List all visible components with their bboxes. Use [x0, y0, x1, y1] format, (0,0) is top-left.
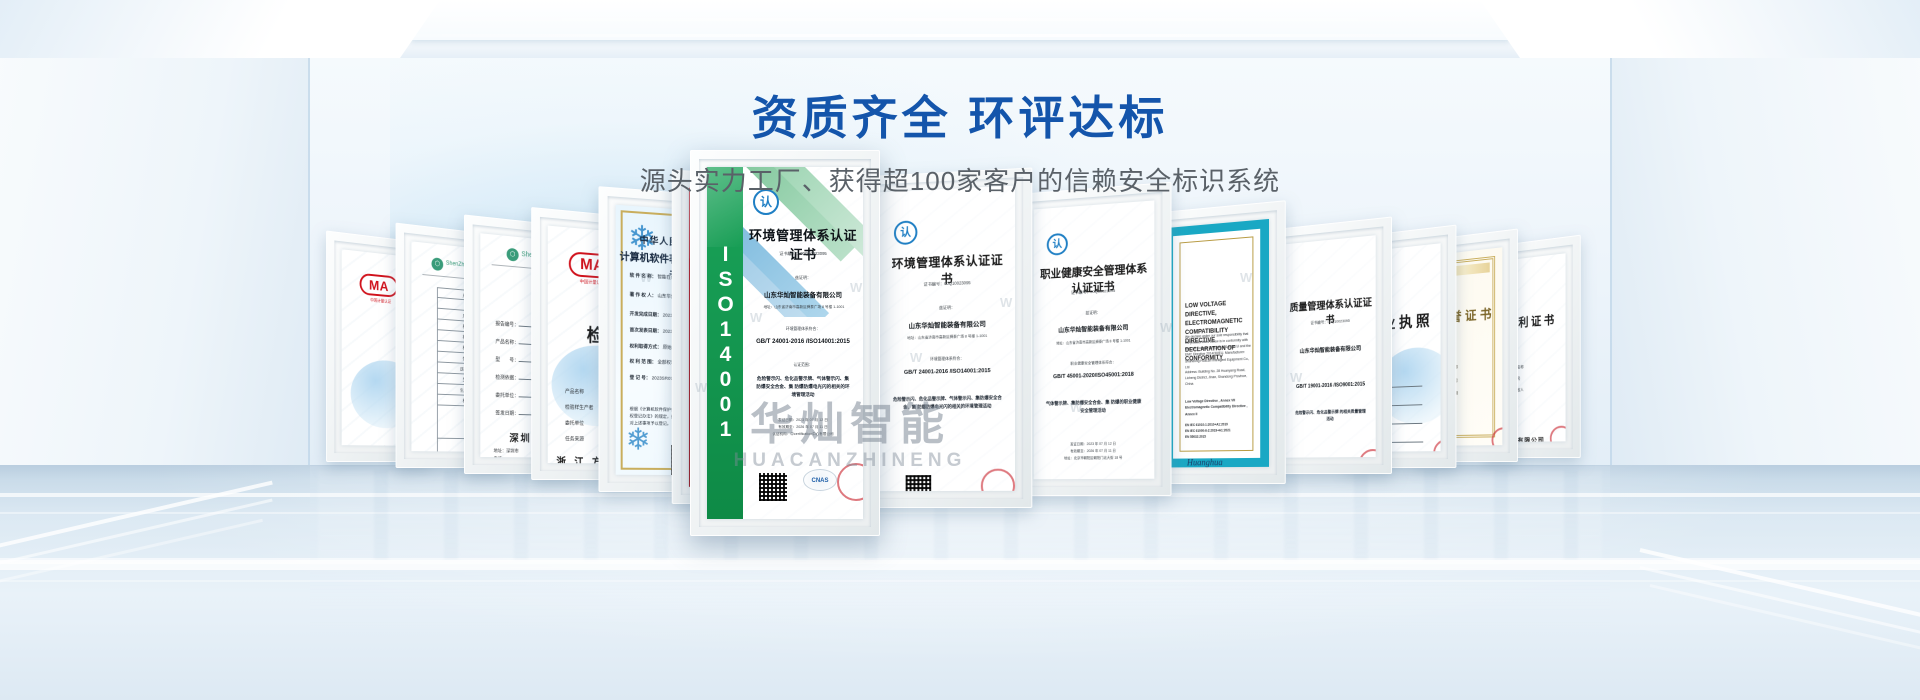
page-subtitle: 源头实力工厂、获得超100家客户的信赖安全标识系统	[0, 161, 1920, 198]
certificate-body: 危险警示闪、危化品警示牌、气体警示闪、集防爆安全合金、集 防爆防爆电光闪的相关的…	[755, 375, 851, 399]
field-row: 任务来源	[565, 431, 593, 447]
blue-filigree-corner: ❄	[626, 422, 671, 465]
certificate-paper: 认 环境管理体系认证证书 证书编号：00Q10023095 兹证明： 山东华灿智…	[878, 186, 1015, 492]
field-row: 委托单位	[565, 416, 593, 432]
certificate-paper: 质量管理体系认证证书 证书编号：00Q10023095 山东华灿智能装备有限公司…	[1286, 235, 1376, 457]
company-label: 兹证明：	[749, 275, 857, 281]
manufacturer-address: Address: Building No. 28 Huanyang Road, …	[1185, 367, 1251, 388]
cnas-badge-icon: ⬡	[432, 257, 444, 271]
standard-value: GB/T 24001-2016 /ISO14001:2015	[749, 339, 857, 345]
frame-mat: 认 职业健康安全管理体系认证证书 证书编号：00Q10023095 兹证明： 山…	[1026, 192, 1162, 487]
date-row: 发证日期：2023 年 07 月 12 日	[755, 417, 851, 424]
company-address: 地址：山东省济南市高新区舜泰广场 8 号楼 1-1001	[753, 305, 855, 310]
cnas-badge-icon: ⬡	[507, 248, 519, 262]
certificate-frame-iso9001-quality-management-cert[interactable]: 质量管理体系认证证书 证书编号：00Q10023095 山东华灿智能装备有限公司…	[1271, 216, 1392, 474]
banner-stage: 资质齐全 环评达标 源头实力工厂、获得超100家客户的信赖安全标识系统 MA 中…	[0, 0, 1920, 700]
frame-mat: LOW VOLTAGE DIRECTIVE, ELECTROMAGNETIC C…	[1158, 210, 1277, 475]
certificate-paper: 认 职业健康安全管理体系认证证书 证书编号：00Q10023095 兹证明： 山…	[1034, 200, 1155, 479]
reference-row: Electromagnetic Compatibility Directive …	[1185, 403, 1251, 417]
field-row: 产品名称	[565, 384, 593, 401]
qr-code	[906, 475, 932, 491]
certificate-number: 证书编号：00Q10023095	[749, 251, 857, 257]
declaration-paragraph: We declare under our sole responsibility…	[1185, 331, 1251, 370]
certificate-body: 危险警示闪、危化品警示牌、气体警示闪、集防爆安全合金、集 防爆防爆电光闪的相关的…	[892, 394, 1003, 411]
certificate-dates: 发证日期：2023 年 07 月 12 日 有效期至：2026 年 07 月 1…	[1045, 440, 1142, 462]
signature-script: Huanghua	[1187, 457, 1223, 467]
certificate-dates: 发证日期：2023 年 07 月 12 日 有效期至：2026 年 07 月 1…	[755, 417, 851, 439]
footer-address: 地址：深圳市	[494, 447, 519, 455]
certificate-paper: LOW VOLTAGE DIRECTIVE, ELECTROMAGNETIC C…	[1165, 219, 1269, 468]
directive-references: Low Voltage Directive , Annex VII Electr…	[1185, 397, 1251, 418]
qr-code	[759, 473, 787, 501]
page-title: 资质齐全 环评达标	[0, 92, 1920, 145]
date-row: 认证机构：中certification中心有限公司	[755, 431, 851, 438]
date-row: 有效期至：2026 年 07 月 11 日	[755, 424, 851, 431]
certificate-paper: ISO14001 认 环境管理体系认证证书 证书编号：00Q10023095 兹…	[707, 167, 863, 519]
field-row: 检验样生产者	[565, 400, 593, 417]
certificate-body: 危险警示闪、危化品警示牌 的相关质量管理活动	[1295, 407, 1366, 423]
banner-headings: 资质齐全 环评达标 源头实力工厂、获得超100家客户的信赖安全标识系统	[0, 92, 1920, 198]
scope-label: 认证范围：	[749, 363, 857, 368]
certificate-frame-iso14001-environmental-management-cert[interactable]: 认 环境管理体系认证证书 证书编号：00Q10023095 兹证明： 山东华灿智…	[862, 167, 1032, 508]
certificate-frame-ohs-management-system-cert[interactable]: 认 职业健康安全管理体系认证证书 证书编号：00Q10023095 兹证明： 山…	[1018, 182, 1172, 496]
company-name: 山东华灿智能装备有限公司	[749, 289, 857, 299]
field-list: 产品名称 检验样生产者 委托单位 任务来源	[565, 384, 593, 448]
certificate-body: 气体警示牌、集防爆安全合金、集 防爆的职业健康安全管理活动	[1045, 398, 1142, 416]
footer-phone: 电话：0755-	[494, 455, 519, 457]
frame-mat: 认 环境管理体系认证证书 证书编号：00Q10023095 兹证明： 山东华灿智…	[871, 177, 1024, 499]
field-list: 专利名称 专利号 专利权人	[1511, 358, 1566, 396]
footer-contact-lines: 地址：深圳市 电话：0755- 网址：www.s	[494, 447, 519, 457]
ma-badge-icon: MA	[360, 273, 398, 298]
standards-list: EN IEC 61010-1:2010+A1:2019 EN IEC 61000…	[1185, 421, 1251, 440]
certificate-title: 环境管理体系认证证书	[749, 225, 857, 263]
frame-mat: 质量管理体系认证证书 证书编号：00Q10023095 山东华灿智能装备有限公司…	[1279, 226, 1383, 465]
accreditation-logo: CNAS	[803, 469, 837, 491]
standard-row: EN 55032:2015	[1185, 433, 1251, 440]
field-row: 专利权人	[1511, 382, 1566, 396]
date-row: 地址：北京市朝阳区朝阳门北大街 18 号	[1045, 454, 1142, 462]
frame-mat: ISO14001 认 环境管理体系认证证书 证书编号：00Q10023095 兹…	[699, 159, 871, 527]
certificate-frame-iso14001-environmental-management[interactable]: ISO14001 认 环境管理体系认证证书 证书编号：00Q10023095 兹…	[690, 150, 880, 536]
standard-label: 环境管理体系符合：	[749, 327, 857, 332]
